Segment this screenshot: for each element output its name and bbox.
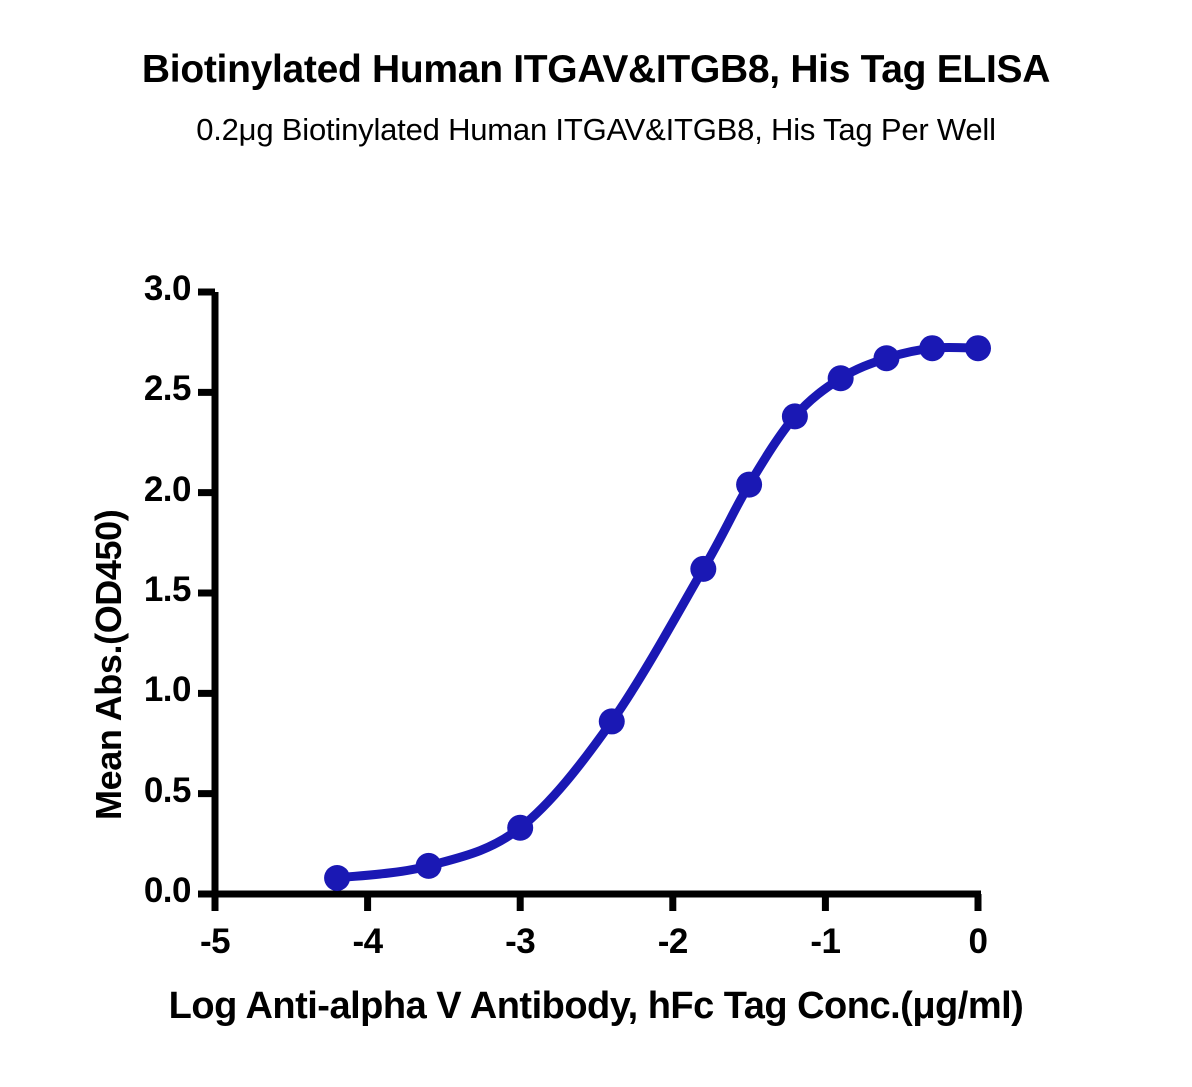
plot-area xyxy=(0,0,1192,1087)
tick-marks xyxy=(198,292,978,911)
data-point xyxy=(736,472,762,498)
data-point xyxy=(507,815,533,841)
data-point xyxy=(782,403,808,429)
fit-curve xyxy=(337,347,978,878)
data-point xyxy=(416,853,442,879)
data-point xyxy=(324,865,350,891)
data-point xyxy=(828,365,854,391)
data-point xyxy=(690,556,716,582)
data-point-group xyxy=(324,335,991,891)
axis-spines xyxy=(212,292,981,894)
elisa-chart-figure: Biotinylated Human ITGAV&ITGB8, His Tag … xyxy=(0,0,1192,1087)
data-point xyxy=(873,345,899,371)
data-point xyxy=(599,708,625,734)
data-point xyxy=(965,335,991,361)
data-point xyxy=(919,335,945,361)
